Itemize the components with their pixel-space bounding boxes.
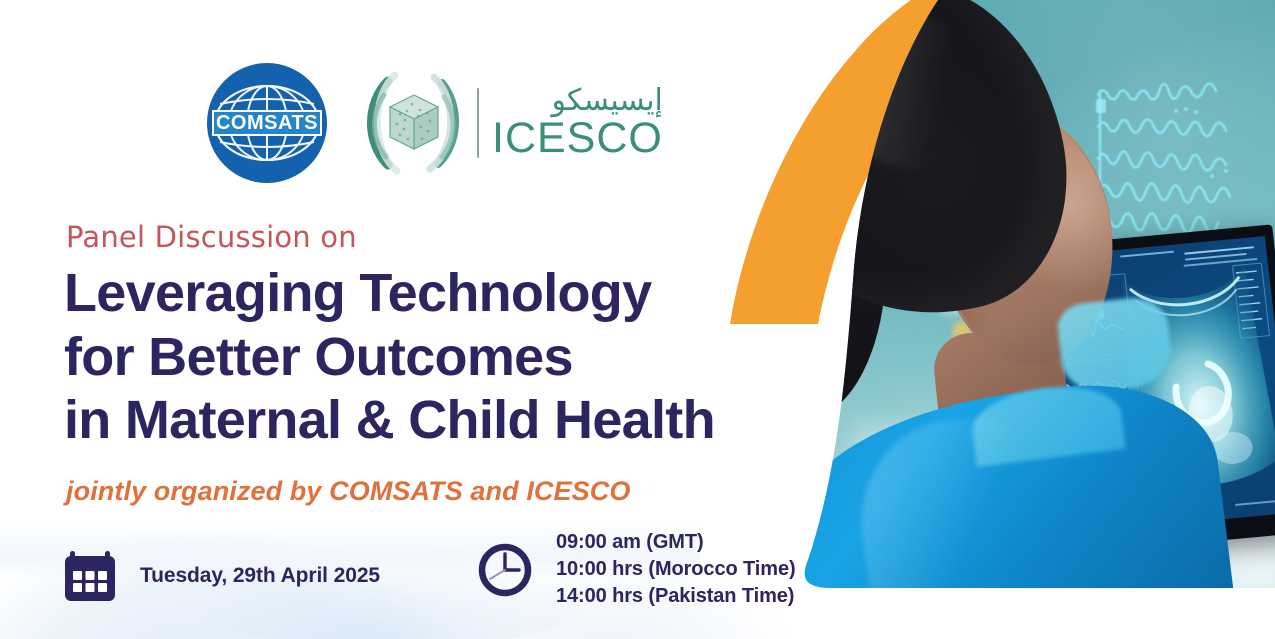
calendar-icon xyxy=(62,548,118,604)
event-date: Tuesday, 29th April 2025 xyxy=(140,564,380,588)
comsats-wordmark: COMSATS xyxy=(216,112,318,134)
event-time-pakistan: 14:00 hrs (Pakistan Time) xyxy=(556,585,796,608)
logo-row: COMSATS xyxy=(200,62,663,184)
hero-photo xyxy=(742,0,1275,588)
comsats-logo: COMSATS xyxy=(200,62,334,184)
icesco-cube xyxy=(390,95,438,149)
event-time-gmt: 09:00 am (GMT) xyxy=(556,531,796,554)
waveform-wall-display xyxy=(1092,55,1275,245)
banner-content: COMSATS xyxy=(0,0,760,639)
logo-divider xyxy=(477,88,479,158)
event-time-morocco: 10:00 hrs (Morocco Time) xyxy=(556,558,796,581)
event-banner: COMSATS xyxy=(0,0,1275,639)
event-times: 09:00 am (GMT) 10:00 hrs (Morocco Time) … xyxy=(556,531,796,608)
event-organizer: jointly organized by COMSATS and ICESCO xyxy=(66,476,630,507)
icesco-arabic-wordmark: إيسيسكو xyxy=(552,86,663,116)
event-kicker: Panel Discussion on xyxy=(66,220,357,254)
event-date-block: Tuesday, 29th April 2025 xyxy=(62,548,380,604)
event-title-line-2: for Better Outcomes xyxy=(64,326,784,390)
event-title-line-3: in Maternal & Child Health xyxy=(64,389,784,453)
event-title: Leveraging Technology for Better Outcome… xyxy=(64,262,784,453)
event-title-line-1: Leveraging Technology xyxy=(64,262,784,326)
event-time-block: 09:00 am (GMT) 10:00 hrs (Morocco Time) … xyxy=(476,531,796,608)
clock-icon xyxy=(476,541,534,599)
icesco-emblem xyxy=(364,69,464,177)
icesco-wordmark-group: إيسيسكو ICESCO xyxy=(492,86,663,160)
icesco-logo: إيسيسكو ICESCO xyxy=(364,69,663,177)
icesco-wordmark: ICESCO xyxy=(492,117,663,160)
